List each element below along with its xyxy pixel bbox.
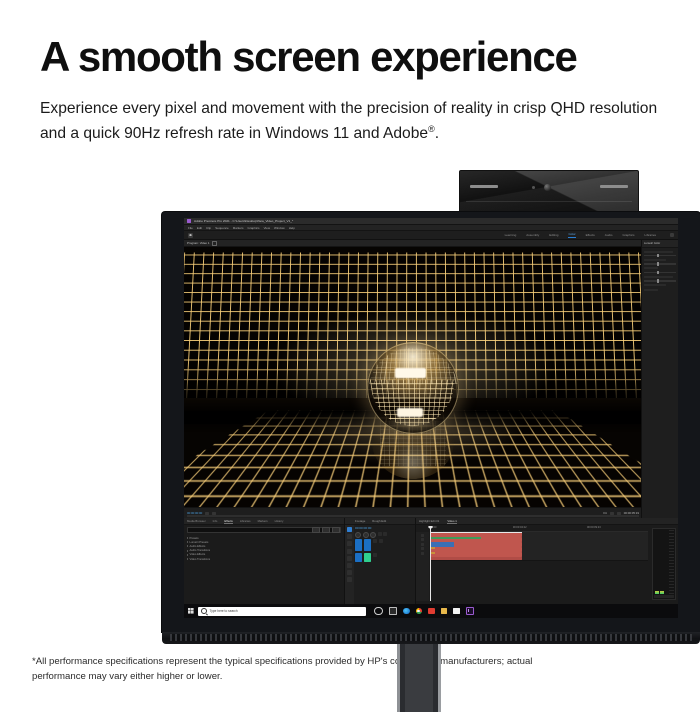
- timeline-playhead[interactable]: [430, 526, 431, 601]
- chevron-right-icon: [187, 558, 188, 560]
- tree-label-video-effects: Video Effects: [190, 553, 206, 556]
- premiere-title-bar: Adobe Premiere Pro 2021 - C:\Users\Deskt…: [184, 218, 678, 225]
- mixer-fader-row-2: [355, 553, 414, 562]
- menu-item-graphics[interactable]: Graphics: [248, 226, 260, 230]
- lower-panels: Media Browser Info Effects Libraries Mar…: [184, 518, 678, 604]
- workspace-tab-editing[interactable]: Editing: [549, 233, 558, 238]
- clip-header: [430, 537, 481, 539]
- tree-label-video-transitions: Video Transitions: [190, 558, 211, 561]
- subcopy-line-3: 11 and Adobe: [333, 125, 428, 142]
- webcam-vent-right: [600, 185, 628, 188]
- ycbcr-icon[interactable]: [332, 527, 340, 533]
- mixer-timecode[interactable]: 00:00:00:00: [355, 526, 414, 530]
- monitor-stand-column: [397, 644, 441, 712]
- ripple-edit-tool-icon[interactable]: [347, 541, 352, 546]
- accelerated-effects-icon[interactable]: [312, 527, 320, 533]
- file-explorer-icon[interactable]: [441, 608, 448, 615]
- effects-tree: Presets Lumetri Presets Audio Effects: [184, 535, 344, 562]
- workspace-tab-color[interactable]: Color: [568, 232, 575, 238]
- audio-meters: [652, 528, 676, 600]
- workspace-tabs: Learning Assembly Editing Color Effects …: [505, 232, 656, 238]
- webcam-vent-left: [470, 185, 498, 188]
- workspace-tab-learning[interactable]: Learning: [505, 233, 517, 238]
- program-monitor-panel: Program: Video 1: [184, 240, 642, 518]
- chevron-right-icon: [187, 550, 188, 552]
- lumetri-section-vignette[interactable]: [644, 289, 658, 291]
- search-placeholder: Type here to search: [210, 609, 238, 613]
- menu-item-clip[interactable]: Clip: [206, 226, 211, 230]
- tab-libraries[interactable]: Libraries: [240, 519, 251, 523]
- mixer-fader-row: [355, 539, 414, 551]
- workspace-tab-assembly[interactable]: Assembly: [526, 233, 539, 238]
- track-header-a1-icon[interactable]: [421, 543, 424, 546]
- program-monitor-viewer[interactable]: [184, 247, 642, 507]
- windows-start-icon[interactable]: [188, 608, 194, 614]
- workspace-tab-audio[interactable]: Audio: [605, 233, 613, 238]
- timeline-track-headers: [416, 532, 429, 601]
- 32bit-color-icon[interactable]: [322, 527, 330, 533]
- registered-mark: ®: [428, 124, 435, 134]
- tab-history[interactable]: History: [275, 519, 284, 523]
- page-subcopy: Experience every pixel and movement with…: [40, 96, 670, 147]
- tab-effects[interactable]: Effects: [224, 519, 233, 524]
- footnote-line-1: *All performance specifications represen…: [32, 656, 387, 667]
- lumetri-section-basic[interactable]: [644, 251, 673, 253]
- meter-bar-right: [660, 591, 664, 594]
- lumetri-section-wheels[interactable]: [644, 276, 673, 278]
- webcam-lens-icon: [544, 184, 551, 191]
- taskbar-search-input[interactable]: Type here to search: [198, 607, 366, 616]
- wrench-icon[interactable]: [617, 512, 621, 515]
- mixer-knob-row: [355, 532, 414, 538]
- lumetri-slider-saturation[interactable]: [644, 272, 676, 273]
- cortana-icon[interactable]: [374, 607, 383, 616]
- lumetri-slider-contrast[interactable]: [644, 263, 676, 264]
- popup-webcam-module: [459, 170, 639, 213]
- menu-item-sequence[interactable]: Sequence: [215, 226, 229, 230]
- pan-knob-2[interactable]: [363, 532, 369, 538]
- meter-solo-mute-row[interactable]: [654, 595, 674, 598]
- tree-label-presets: Presets: [190, 537, 199, 540]
- menu-item-help[interactable]: Help: [289, 226, 295, 230]
- mixer-controls: 00:00:00:00: [355, 526, 414, 603]
- tree-label-audio-transitions: Audio Transitions: [190, 549, 211, 552]
- timeline-clip[interactable]: [430, 557, 522, 560]
- selection-tool-icon[interactable]: [347, 527, 352, 532]
- track-header-a2-icon[interactable]: [421, 547, 424, 550]
- tab-sequence-video-1[interactable]: Video 1: [447, 519, 456, 524]
- tab-rough-edit[interactable]: Rough Edit: [372, 519, 386, 523]
- chevron-right-icon: [187, 545, 188, 547]
- page-title: A smooth screen experience: [40, 36, 680, 78]
- footnote: *All performance specifications represen…: [32, 655, 552, 684]
- monitor-screen: Adobe Premiere Pro 2021 - C:\Users\Deskt…: [184, 218, 678, 618]
- glass-sphere: [367, 342, 459, 434]
- monitor-vent-texture: [170, 634, 692, 641]
- app-red-icon[interactable]: [428, 608, 435, 615]
- menu-item-markers[interactable]: Markers: [233, 226, 244, 230]
- webcam-led-icon: [532, 186, 535, 189]
- mail-icon[interactable]: [453, 608, 460, 615]
- fader-track-2[interactable]: [364, 539, 371, 551]
- effects-panel-tabbar: Media Browser Info Effects Libraries Mar…: [184, 518, 344, 525]
- pan-knob-3[interactable]: [370, 532, 376, 538]
- track-row[interactable]: [430, 557, 648, 561]
- settings-icon[interactable]: [212, 512, 216, 515]
- playback-resolution-icon[interactable]: [205, 512, 209, 515]
- workspace-tab-graphics[interactable]: Graphics: [622, 233, 634, 238]
- menu-item-view[interactable]: View: [264, 226, 270, 230]
- program-monitor-tabbar: Program: Video 1: [184, 240, 642, 247]
- workspace-bar: Learning Assembly Editing Color Effects …: [184, 231, 678, 240]
- window-title: Adobe Premiere Pro 2021 - C:\Users\Deskt…: [194, 219, 293, 223]
- premiere-pro-window: Adobe Premiere Pro 2021 - C:\Users\Deskt…: [184, 218, 678, 618]
- tree-label-lumetri-presets: Lumetri Presets: [190, 541, 209, 544]
- tree-item-video-transitions[interactable]: Video Transitions: [187, 557, 341, 561]
- tab-highlight-edit[interactable]: Highlight Edit 01: [419, 519, 439, 523]
- taskbar-icons: [374, 607, 474, 616]
- type-tool-icon[interactable]: [347, 577, 352, 582]
- tab-markers[interactable]: Markers: [258, 519, 268, 523]
- tab-media-browser[interactable]: Media Browser: [187, 519, 206, 523]
- sphere-rim: [367, 342, 459, 434]
- master-meter-icon[interactable]: [373, 553, 377, 557]
- track-header-a3-icon[interactable]: [421, 552, 424, 555]
- tab-lumetri-color[interactable]: Lumetri Color: [642, 240, 678, 248]
- pan-knob-1[interactable]: [355, 532, 361, 538]
- pen-tool-icon[interactable]: [347, 563, 352, 568]
- subcopy-period: .: [435, 125, 439, 142]
- task-view-icon[interactable]: [389, 607, 398, 616]
- timeline-panel: Highlight Edit 01 Video 1 00:00 00:00:04…: [416, 518, 678, 604]
- track-header-v2-icon[interactable]: [421, 534, 424, 537]
- hp-monitor: Adobe Premiere Pro 2021 - C:\Users\Deskt…: [162, 212, 700, 644]
- premiere-pro-icon[interactable]: [466, 607, 475, 616]
- fader-master[interactable]: [364, 553, 371, 562]
- chevron-right-icon: [187, 554, 188, 556]
- video-frame-gold-grid-room: [184, 247, 642, 507]
- lumetri-slider-exposure[interactable]: [644, 255, 676, 256]
- tab-info[interactable]: Info: [213, 519, 218, 523]
- effects-filter-icons: [312, 527, 340, 533]
- razor-tool-icon[interactable]: [347, 549, 352, 554]
- record-arm-icon[interactable]: [373, 539, 377, 543]
- ruler-label-end: 00:00:09:23: [587, 526, 601, 529]
- automation-mode-icon[interactable]: [379, 539, 383, 543]
- effects-panel: Media Browser Info Effects Libraries Mar…: [184, 518, 345, 604]
- mixer-tabbar: Footage Rough Edit: [345, 518, 415, 525]
- slip-tool-icon[interactable]: [347, 556, 352, 561]
- meter-scale: [669, 530, 674, 594]
- toolbar-tools: [345, 525, 354, 604]
- workspace-overflow-icon[interactable]: [670, 233, 674, 237]
- chevron-right-icon: [187, 541, 188, 543]
- search-icon: [201, 608, 207, 614]
- chrome-icon[interactable]: [416, 608, 423, 615]
- menu-item-file[interactable]: File: [188, 226, 193, 230]
- premiere-pro-logo-icon: [187, 219, 191, 223]
- close-icon[interactable]: [212, 241, 217, 246]
- home-icon[interactable]: [188, 233, 193, 238]
- meter-bar-left: [655, 591, 659, 594]
- lumetri-section-curves[interactable]: [644, 267, 658, 269]
- timeline-tabbar: Highlight Edit 01 Video 1: [416, 518, 678, 525]
- menu-item-window[interactable]: Window: [274, 226, 285, 230]
- lumetri-slider-temperature[interactable]: [644, 280, 676, 281]
- audio-mixer-panel: Footage Rough Edit: [345, 518, 416, 604]
- clip-header: [430, 532, 522, 533]
- timeline-tracks[interactable]: [430, 532, 648, 601]
- windows-taskbar: Type here to search: [184, 604, 678, 618]
- edge-icon[interactable]: [403, 608, 410, 615]
- workspace-tab-libraries[interactable]: Libraries: [644, 233, 656, 238]
- ruler-label-mid: 00:00:04:22: [513, 526, 527, 529]
- chevron-right-icon: [187, 537, 188, 539]
- menu-item-edit[interactable]: Edit: [197, 226, 202, 230]
- tab-footage[interactable]: Footage: [355, 519, 365, 523]
- lumetri-color-panel: Lumetri Color: [641, 240, 678, 518]
- monitor-chin: [162, 632, 700, 644]
- webcam-seam: [466, 201, 632, 202]
- track-select-tool-icon[interactable]: [347, 534, 352, 539]
- monitor-bezel: Adobe Premiere Pro 2021 - C:\Users\Deskt…: [162, 212, 700, 632]
- tree-label-audio-effects: Audio Effects: [190, 545, 206, 548]
- workspace-tab-effects[interactable]: Effects: [586, 233, 595, 238]
- lumetri-section-hsl[interactable]: [644, 284, 666, 286]
- subcopy-line-1: Experience every pixel and movement with…: [40, 100, 492, 117]
- lumetri-section-creative[interactable]: [644, 259, 666, 261]
- track-header-v1-icon[interactable]: [421, 538, 424, 541]
- solo-button-1[interactable]: [383, 532, 387, 536]
- fader-track-1[interactable]: [355, 539, 362, 551]
- hand-tool-icon[interactable]: [347, 570, 352, 575]
- tab-program-video-1[interactable]: Program: Video 1: [187, 241, 209, 245]
- fader-track-3[interactable]: [355, 553, 362, 562]
- mute-button-1[interactable]: [378, 532, 382, 536]
- zoom-dropdown-icon[interactable]: [610, 512, 614, 515]
- program-scrubber[interactable]: [187, 515, 639, 516]
